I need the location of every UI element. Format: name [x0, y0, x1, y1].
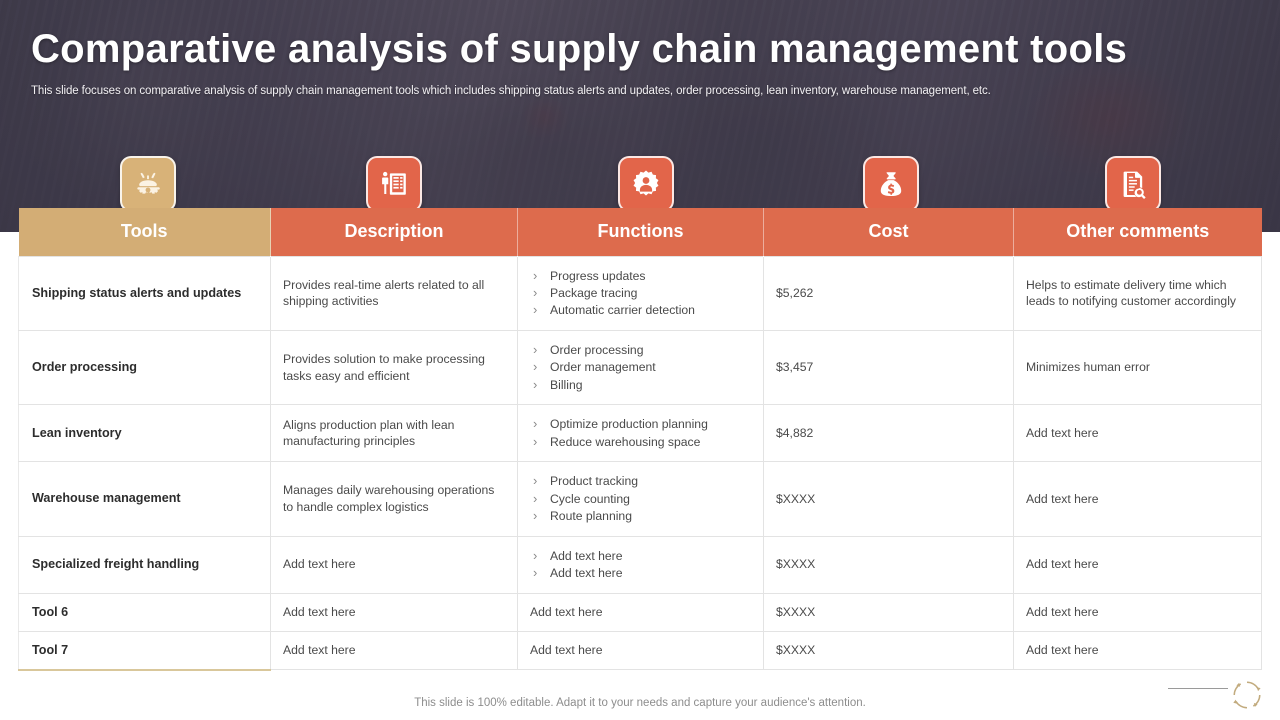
functions-list: Product trackingCycle countingRoute plan…	[530, 473, 751, 524]
cell-tool[interactable]: Order processing	[19, 330, 271, 404]
badge-other-comments	[1105, 156, 1161, 212]
badge-cost	[863, 156, 919, 212]
cell-description[interactable]: Add text here	[271, 631, 518, 670]
functions-list-item: Automatic carrier detection	[530, 302, 751, 318]
column-header-description[interactable]: Description	[271, 208, 518, 256]
cell-cost[interactable]: $4,882	[764, 405, 1014, 462]
cell-other-comments[interactable]: Add text here	[1014, 536, 1262, 593]
footer-divider	[1168, 688, 1228, 689]
column-header-functions[interactable]: Functions	[518, 208, 764, 256]
cell-other-comments[interactable]: Add text here	[1014, 631, 1262, 670]
functions-list-item: Package tracing	[530, 285, 751, 301]
table-header-row: Tools Description Functions Cost Other c…	[19, 208, 1262, 256]
cell-other-comments[interactable]: Helps to estimate delivery time which le…	[1014, 256, 1262, 330]
functions-list-item: Reduce warehousing space	[530, 434, 751, 450]
cell-description[interactable]: Add text here	[271, 536, 518, 593]
functions-list-item: Billing	[530, 377, 751, 393]
functions-list-item: Route planning	[530, 508, 751, 524]
table-row[interactable]: Tool 6Add text hereAdd text here$XXXXAdd…	[19, 593, 1262, 631]
functions-list: Progress updatesPackage tracingAutomatic…	[530, 268, 751, 319]
functions-list-item: Order management	[530, 359, 751, 375]
document-search-icon	[1118, 169, 1148, 199]
column-header-cost[interactable]: Cost	[764, 208, 1014, 256]
cell-description[interactable]: Aligns production plan with lean manufac…	[271, 405, 518, 462]
functions-list-item: Add text here	[530, 565, 751, 581]
column-header-other-comments[interactable]: Other comments	[1014, 208, 1262, 256]
functions-list-item: Optimize production planning	[530, 416, 751, 432]
table-header: Tools Description Functions Cost Other c…	[19, 208, 1262, 256]
cell-cost[interactable]: $5,262	[764, 256, 1014, 330]
cell-other-comments[interactable]: Add text here	[1014, 462, 1262, 536]
cell-description[interactable]: Provides real-time alerts related to all…	[271, 256, 518, 330]
column-header-tools[interactable]: Tools	[19, 208, 271, 256]
cell-tool[interactable]: Warehouse management	[19, 462, 271, 536]
cell-functions[interactable]: Progress updatesPackage tracingAutomatic…	[518, 256, 764, 330]
cell-functions[interactable]: Add text here	[518, 593, 764, 631]
cell-tool[interactable]: Lean inventory	[19, 405, 271, 462]
cell-functions[interactable]: Product trackingCycle countingRoute plan…	[518, 462, 764, 536]
circular-arrows-logo	[1228, 678, 1266, 712]
cell-description[interactable]: Manages daily warehousing operations to …	[271, 462, 518, 536]
cell-cost[interactable]: $XXXX	[764, 536, 1014, 593]
comparison-table: Tools Description Functions Cost Other c…	[18, 208, 1262, 671]
table-row[interactable]: Lean inventoryAligns production plan wit…	[19, 405, 1262, 462]
gear-person-icon	[631, 169, 661, 199]
cell-description[interactable]: Provides solution to make processing tas…	[271, 330, 518, 404]
functions-list-item: Product tracking	[530, 473, 751, 489]
table-body: Shipping status alerts and updatesProvid…	[19, 256, 1262, 670]
functions-list-item: Add text here	[530, 548, 751, 564]
functions-list-item: Order processing	[530, 342, 751, 358]
page-subtitle: This slide focuses on comparative analys…	[31, 85, 991, 97]
cell-tool[interactable]: Tool 7	[19, 631, 271, 670]
cell-other-comments[interactable]: Minimizes human error	[1014, 330, 1262, 404]
cell-functions[interactable]: Order processingOrder managementBilling	[518, 330, 764, 404]
functions-list-item: Cycle counting	[530, 491, 751, 507]
cell-description[interactable]: Add text here	[271, 593, 518, 631]
table-row[interactable]: Warehouse managementManages daily wareho…	[19, 462, 1262, 536]
table-row[interactable]: Shipping status alerts and updatesProvid…	[19, 256, 1262, 330]
cell-tool[interactable]: Shipping status alerts and updates	[19, 256, 271, 330]
footer-note: This slide is 100% editable. Adapt it to…	[0, 697, 1280, 709]
badge-tools	[120, 156, 176, 212]
gear-tools-icon	[133, 169, 163, 199]
cell-cost[interactable]: $XXXX	[764, 631, 1014, 670]
cell-tool[interactable]: Specialized freight handling	[19, 536, 271, 593]
cell-cost[interactable]: $XXXX	[764, 593, 1014, 631]
functions-list: Optimize production planningReduce wareh…	[530, 416, 751, 450]
cell-functions[interactable]: Optimize production planningReduce wareh…	[518, 405, 764, 462]
presentation-board-icon	[379, 169, 409, 199]
cell-other-comments[interactable]: Add text here	[1014, 593, 1262, 631]
cell-functions[interactable]: Add text here	[518, 631, 764, 670]
table-row[interactable]: Tool 7Add text hereAdd text here$XXXXAdd…	[19, 631, 1262, 670]
functions-list-item: Progress updates	[530, 268, 751, 284]
cell-cost[interactable]: $3,457	[764, 330, 1014, 404]
badge-functions	[618, 156, 674, 212]
cell-tool[interactable]: Tool 6	[19, 593, 271, 631]
money-bag-icon	[876, 169, 906, 199]
functions-list: Order processingOrder managementBilling	[530, 342, 751, 393]
table-row[interactable]: Order processingProvides solution to mak…	[19, 330, 1262, 404]
page-title: Comparative analysis of supply chain man…	[31, 27, 1127, 72]
cell-cost[interactable]: $XXXX	[764, 462, 1014, 536]
table-row[interactable]: Specialized freight handlingAdd text her…	[19, 536, 1262, 593]
functions-list: Add text hereAdd text here	[530, 548, 751, 582]
cell-other-comments[interactable]: Add text here	[1014, 405, 1262, 462]
badge-description	[366, 156, 422, 212]
cell-functions[interactable]: Add text hereAdd text here	[518, 536, 764, 593]
